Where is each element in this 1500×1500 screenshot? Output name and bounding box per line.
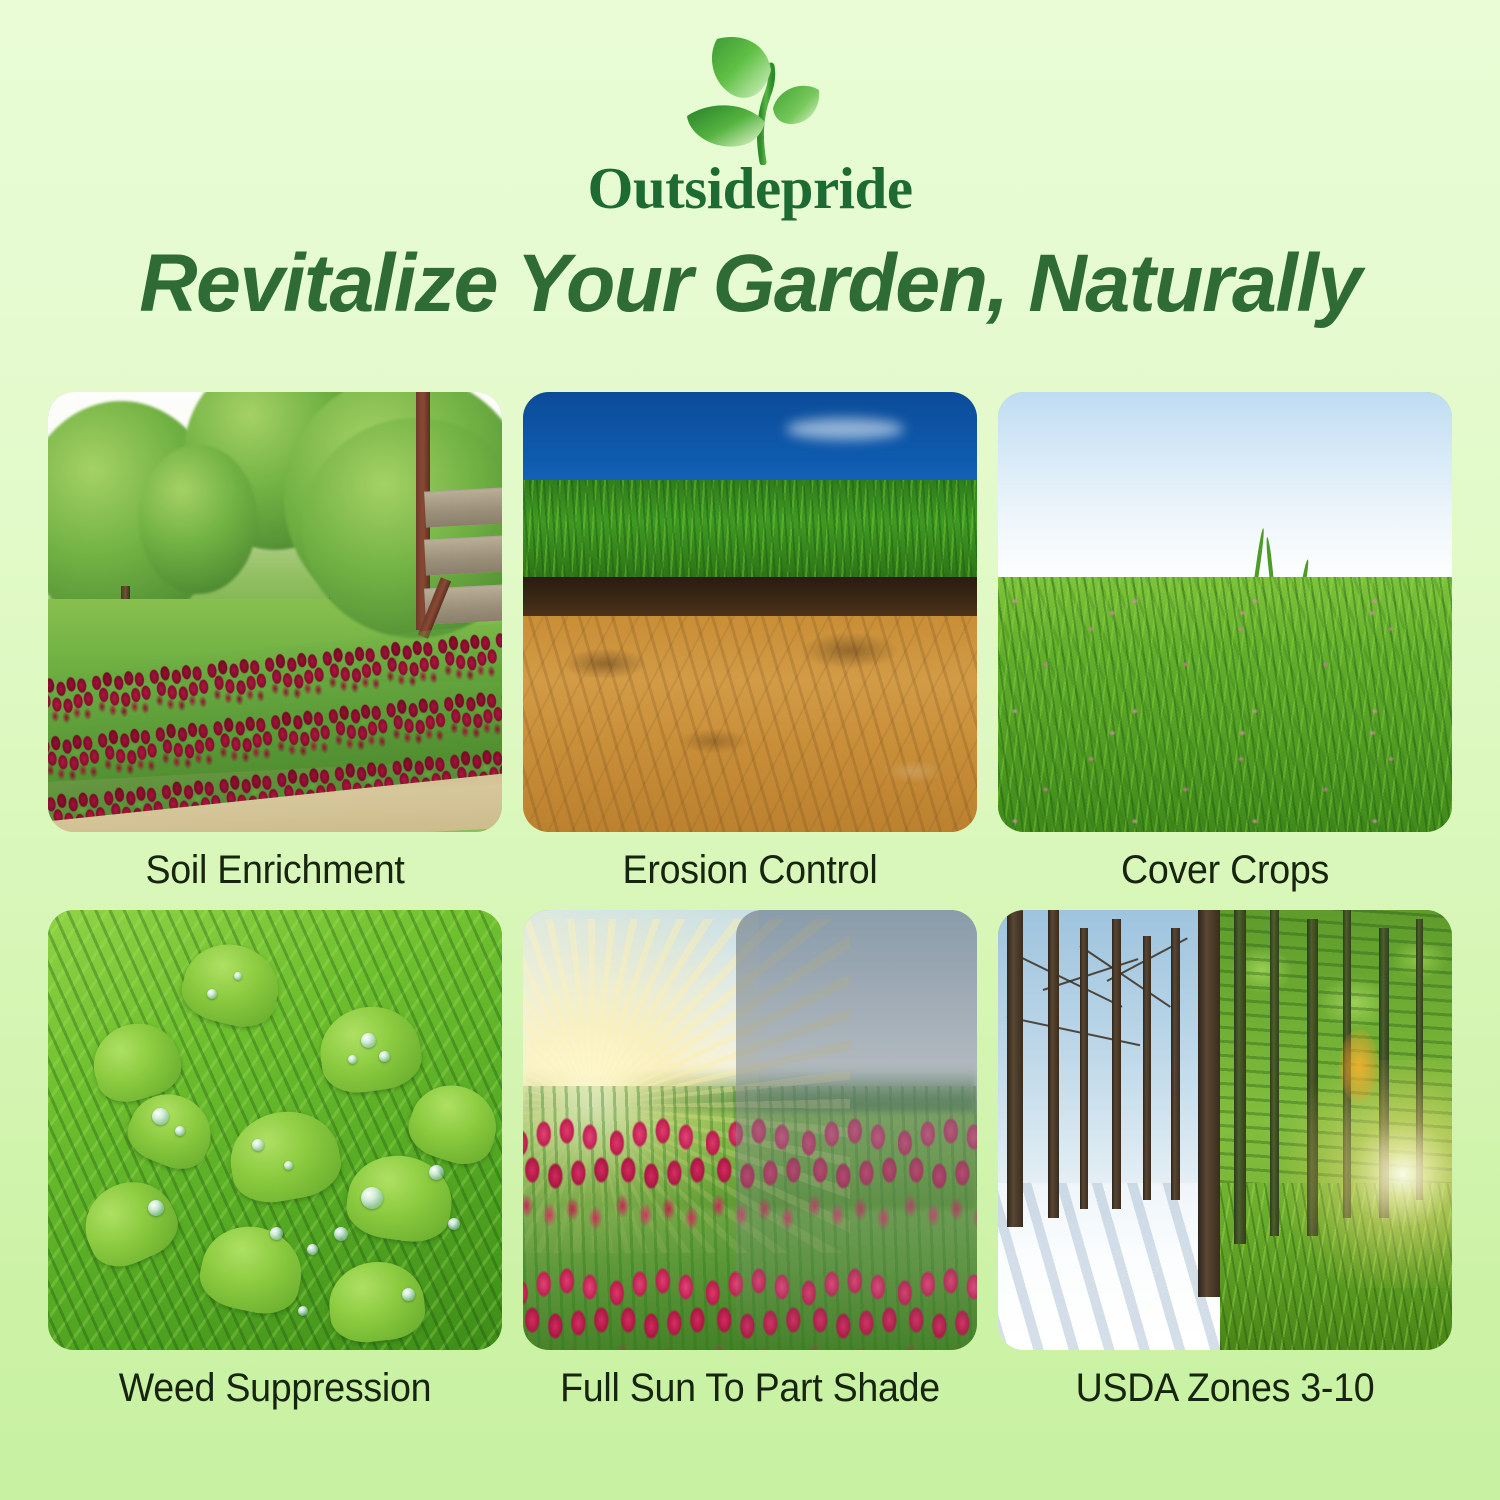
feature-card-erosion-control: Erosion Control: [523, 392, 977, 892]
feature-card-usda-zones: USDA Zones 3-10: [998, 910, 1452, 1410]
feature-caption: Soil Enrichment: [62, 848, 489, 892]
feature-card-sun-shade: Full Sun To Part Shade: [523, 910, 977, 1410]
feature-image-usda-zones: [998, 910, 1452, 1350]
promotional-poster: Outsidepride Revitalize Your Garden, Nat…: [0, 0, 1500, 1500]
brand-logo: Outsidepride: [0, 30, 1500, 218]
feature-image-soil-enrichment: [48, 392, 502, 832]
shade-overlay: [736, 910, 977, 1350]
feature-grid: Soil Enrichment Erosion Control: [48, 392, 1452, 1410]
feature-caption: USDA Zones 3-10: [1012, 1366, 1439, 1410]
feature-card-soil-enrichment: Soil Enrichment: [48, 392, 502, 892]
brand-wordmark: Outsidepride: [0, 159, 1500, 218]
feature-caption: Erosion Control: [537, 848, 964, 892]
feature-card-cover-crops: Cover Crops: [998, 392, 1452, 892]
seedling-leaves-icon: [655, 30, 845, 165]
feature-image-cover-crops: [998, 392, 1452, 832]
feature-caption: Cover Crops: [1012, 848, 1439, 892]
feature-image-erosion-control: [523, 392, 977, 832]
feature-caption: Full Sun To Part Shade: [537, 1366, 964, 1410]
feature-image-sun-shade: [523, 910, 977, 1350]
feature-image-weed-suppression: [48, 910, 502, 1350]
feature-card-weed-suppression: Weed Suppression: [48, 910, 502, 1410]
feature-caption: Weed Suppression: [62, 1366, 489, 1410]
page-title: Revitalize Your Garden, Naturally: [11, 243, 1489, 325]
